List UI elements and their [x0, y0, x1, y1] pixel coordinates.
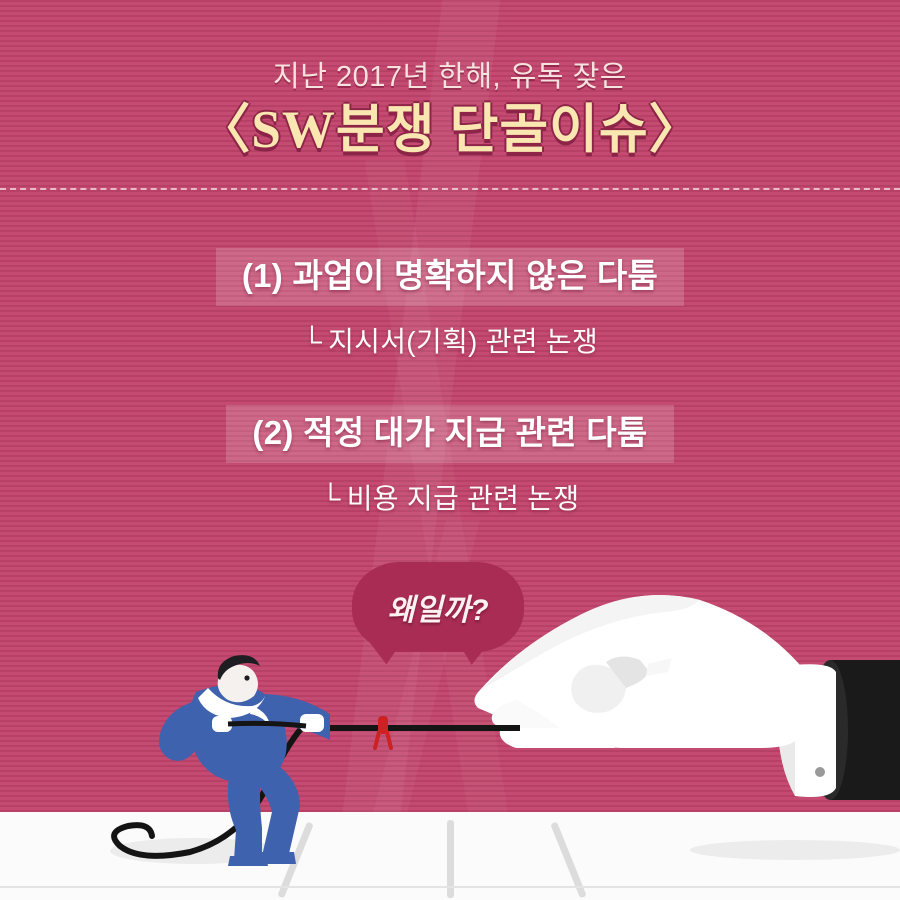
rope-center-marker	[375, 716, 391, 748]
man-eye	[244, 675, 249, 680]
rope-at-man	[228, 723, 306, 726]
giant-hand-pinching-rope	[474, 595, 900, 800]
cuff-button-icon	[815, 767, 825, 777]
shirt-cuff	[795, 664, 836, 797]
man-rear-arm	[159, 700, 200, 761]
man-hand-front	[300, 714, 324, 732]
man-pulling-rope	[159, 655, 330, 866]
illustration-layer	[0, 0, 900, 900]
infographic-card: 지난 2017년 한해, 유독 잦은 〈SW분쟁 단골이슈〉 (1) 과업이 명…	[0, 0, 900, 900]
man-front-shoe	[256, 852, 296, 864]
